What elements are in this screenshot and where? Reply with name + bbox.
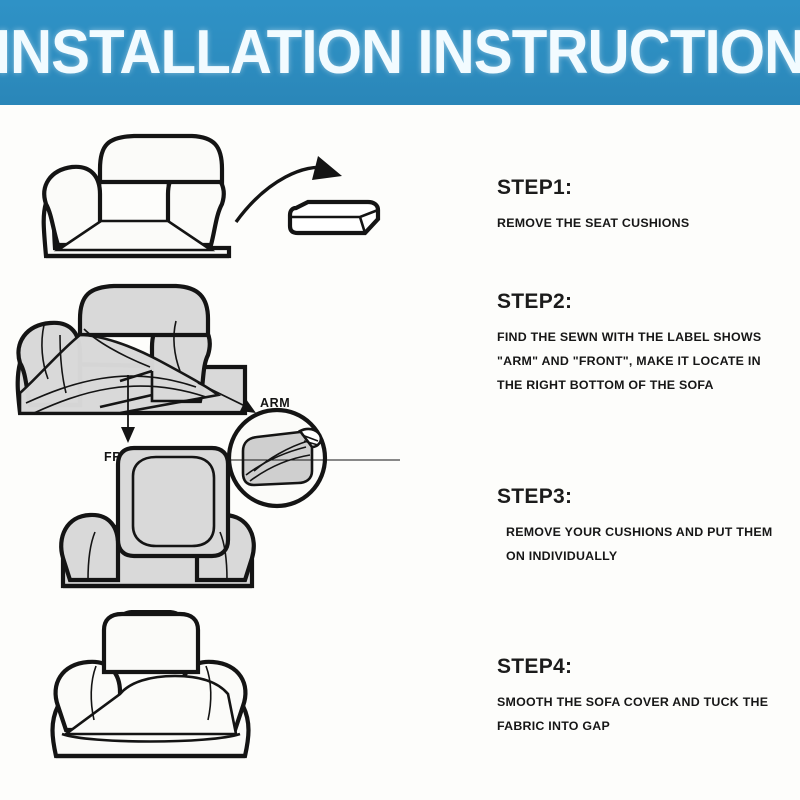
step3-text-block: STEP3: REMOVE YOUR CUSHIONS AND PUT THEM… xyxy=(497,485,797,568)
step2-line-3: THE RIGHT BOTTOM OF THE SOFA xyxy=(497,373,797,397)
step3-illustration xyxy=(0,440,490,615)
page-title: INSTALLATION INSTRUCTION xyxy=(24,0,776,105)
step4-line-2: FABRIC INTO GAP xyxy=(497,714,797,738)
step3-line-2: ON INDIVIDUALLY xyxy=(497,544,797,568)
step2-text-block: STEP2: FIND THE SEWN WITH THE LABEL SHOW… xyxy=(497,290,797,398)
step4-line-1: SMOOTH THE SOFA COVER AND TUCK THE xyxy=(497,690,797,714)
step3-title: STEP3: xyxy=(497,485,797,509)
step1-illustration xyxy=(0,120,490,275)
instruction-poster: INSTALLATION INSTRUCTION xyxy=(0,0,800,800)
step2-line-2: "ARM" AND "FRONT", MAKE IT LOCATE IN xyxy=(497,349,797,373)
step1-line-1: REMOVE THE SEAT CUSHIONS xyxy=(497,211,797,235)
step2-title: STEP2: xyxy=(497,290,797,314)
step2-line-1: FIND THE SEWN WITH THE LABEL SHOWS xyxy=(497,325,797,349)
step1-text-block: STEP1: REMOVE THE SEAT CUSHIONS xyxy=(497,176,797,235)
step4-title: STEP4: xyxy=(497,655,797,679)
step3-line-1: REMOVE YOUR CUSHIONS AND PUT THEM xyxy=(497,520,797,544)
finished-covered-armchair xyxy=(53,612,249,756)
armchair-with-upright-cushion xyxy=(61,448,254,586)
armchair-outline xyxy=(44,136,229,256)
step4-illustration xyxy=(0,610,490,785)
callout-arm-label: ARM xyxy=(260,396,290,410)
header-banner: INSTALLATION INSTRUCTION xyxy=(0,0,800,105)
armchair-draped-with-cover xyxy=(18,286,245,413)
step4-text-block: STEP4: SMOOTH THE SOFA COVER AND TUCK TH… xyxy=(497,655,797,738)
step1-title: STEP1: xyxy=(497,176,797,200)
seat-cushion-icon xyxy=(290,202,378,233)
